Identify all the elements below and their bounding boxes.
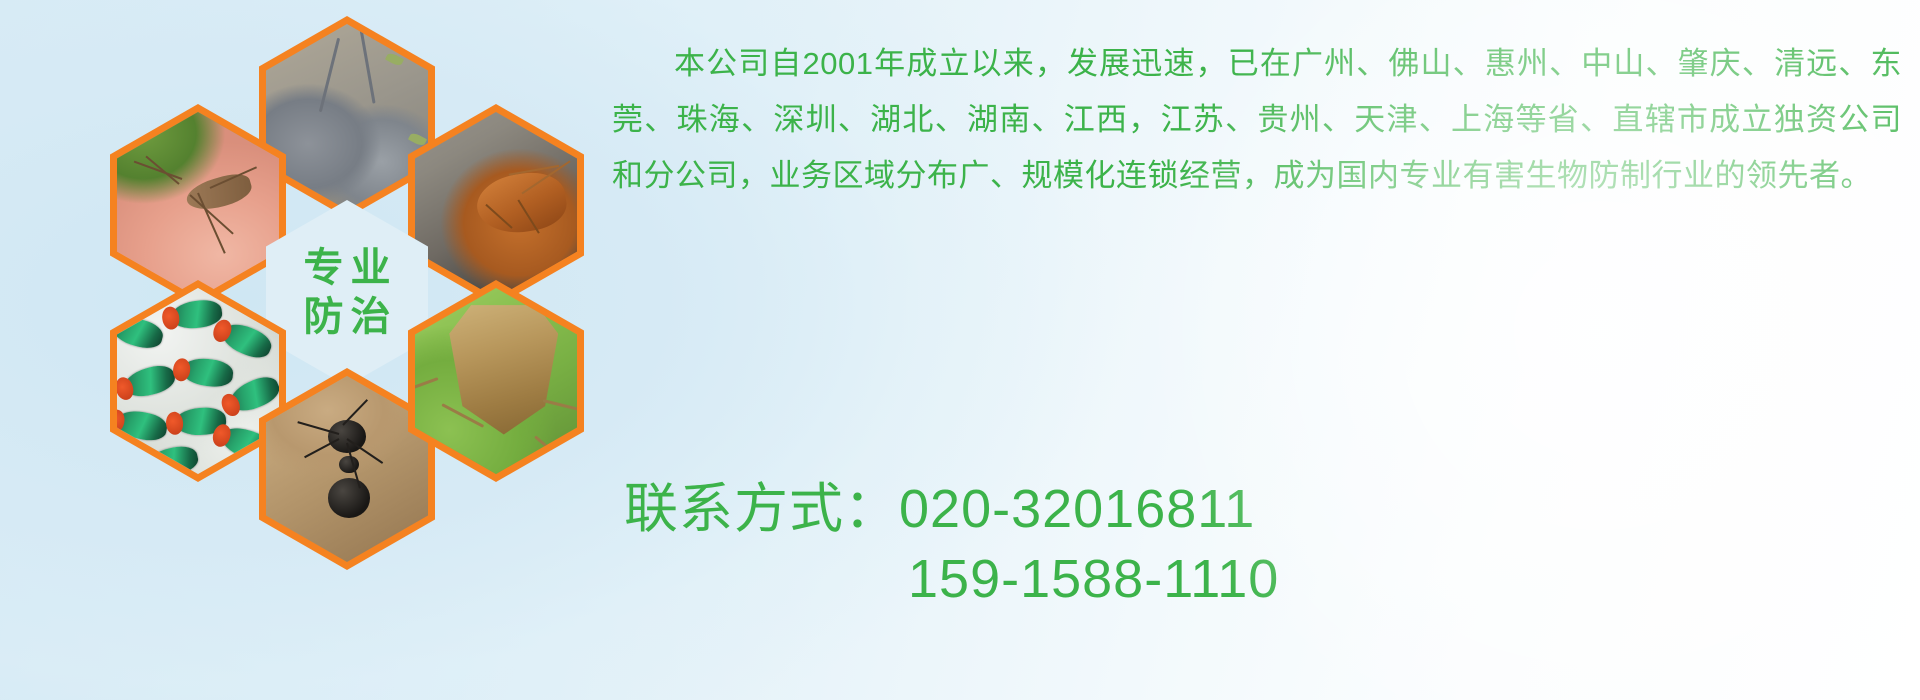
hex-image-stinkbug: [415, 288, 577, 474]
hex-image-rats: [266, 24, 428, 210]
center-label-line2: 防治: [297, 296, 398, 339]
hex-image-cockroach: [415, 112, 577, 298]
honeycomb-collage: 专业 防治: [86, 0, 606, 574]
contact-line-primary[interactable]: 联系方式：020-32016811: [624, 474, 1914, 544]
promo-banner: 专业 防治: [0, 0, 1920, 700]
hex-image-mosquito: [117, 112, 279, 298]
contact-block: 联系方式：020-32016811 159-1588-1110: [624, 474, 1914, 614]
intro-paragraph: 本公司自2001年成立以来，发展迅速，已在广州、佛山、惠州、中山、肇庆、清远、东…: [612, 36, 1902, 204]
hex-image-flies: [117, 288, 279, 474]
stinkbug-photo: [415, 288, 577, 474]
ant-photo: [266, 376, 428, 562]
hex-image-ant: [266, 376, 428, 562]
rats-photo: [266, 24, 428, 210]
center-label-line1: 专业: [297, 247, 398, 290]
mosquito-photo: [117, 112, 279, 298]
intro-block: 本公司自2001年成立以来，发展迅速，已在广州、佛山、惠州、中山、肇庆、清远、东…: [612, 36, 1902, 204]
cockroach-photo: [415, 112, 577, 298]
flies-photo: [117, 288, 279, 474]
contact-line-mobile[interactable]: 159-1588-1110: [624, 544, 1914, 614]
hex-center-panel: 专业 防治: [266, 200, 428, 386]
